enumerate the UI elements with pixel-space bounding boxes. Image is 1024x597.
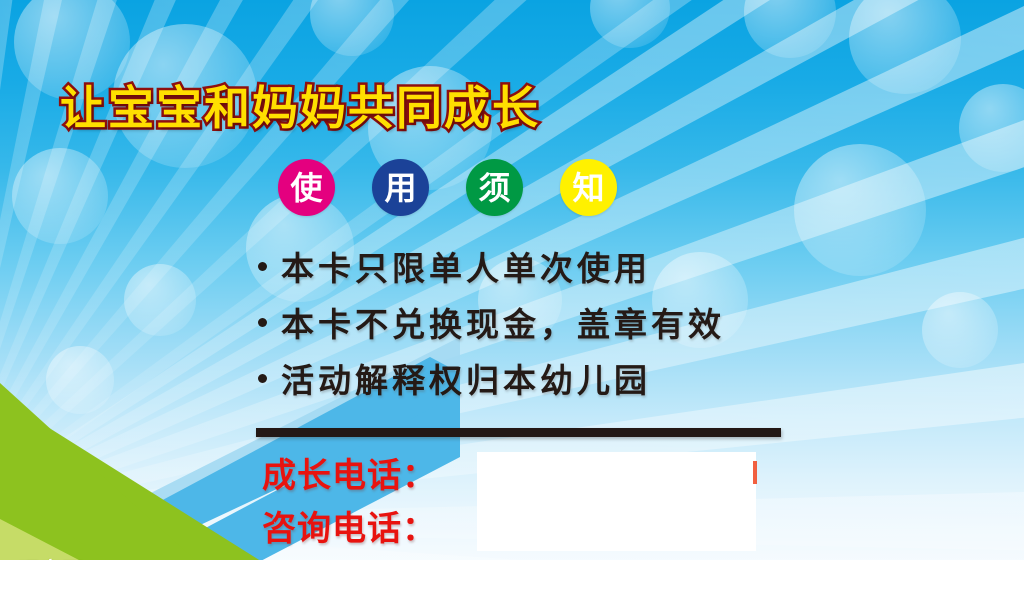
badge-xu: 须 (466, 159, 523, 216)
bullet-dot-icon (258, 262, 267, 271)
terms-list: 本卡只限单人单次使用 本卡不兑换现金，盖章有效 活动解释权归本幼儿园 (258, 238, 958, 406)
poster-canvas: 让宝宝和妈妈共同成长 使 用 须 知 本卡只限单人单次使用 本卡不兑换现金，盖章… (0, 0, 1024, 597)
redaction-edge-remnant (753, 461, 757, 484)
badge-yong-label: 用 (384, 172, 416, 204)
list-item-label: 本卡不兑换现金，盖章有效 (281, 298, 725, 346)
list-item: 本卡不兑换现金，盖章有效 (258, 294, 958, 350)
contact-label-inquiry: 咨询电话： (262, 501, 437, 550)
bullet-dot-icon (258, 318, 267, 327)
section-badge-group: 使 用 须 知 (278, 159, 617, 216)
list-item-label: 本卡只限单人单次使用 (281, 242, 651, 290)
badge-zhi: 知 (560, 159, 617, 216)
contact-label-growth: 成长电话： (262, 448, 437, 497)
list-item: 活动解释权归本幼儿园 (258, 350, 958, 406)
badge-yong: 用 (372, 159, 429, 216)
bullet-dot-icon (258, 374, 267, 383)
badge-shi-label: 使 (290, 172, 322, 204)
contact-row-growth: 成长电话： (262, 446, 445, 499)
contact-block: 成长电话： 咨询电话： (262, 446, 445, 552)
list-item-label: 活动解释权归本幼儿园 (281, 354, 651, 402)
badge-xu-label: 须 (478, 172, 510, 204)
footer-strip (0, 560, 1024, 597)
contact-row-inquiry: 咨询电话： (262, 499, 445, 552)
badge-zhi-label: 知 (572, 172, 604, 204)
page-title: 让宝宝和妈妈共同成长 (60, 72, 540, 138)
badge-shi: 使 (278, 159, 335, 216)
horizontal-divider (256, 428, 781, 437)
redaction-overlay (477, 452, 756, 551)
list-item: 本卡只限单人单次使用 (258, 238, 958, 294)
